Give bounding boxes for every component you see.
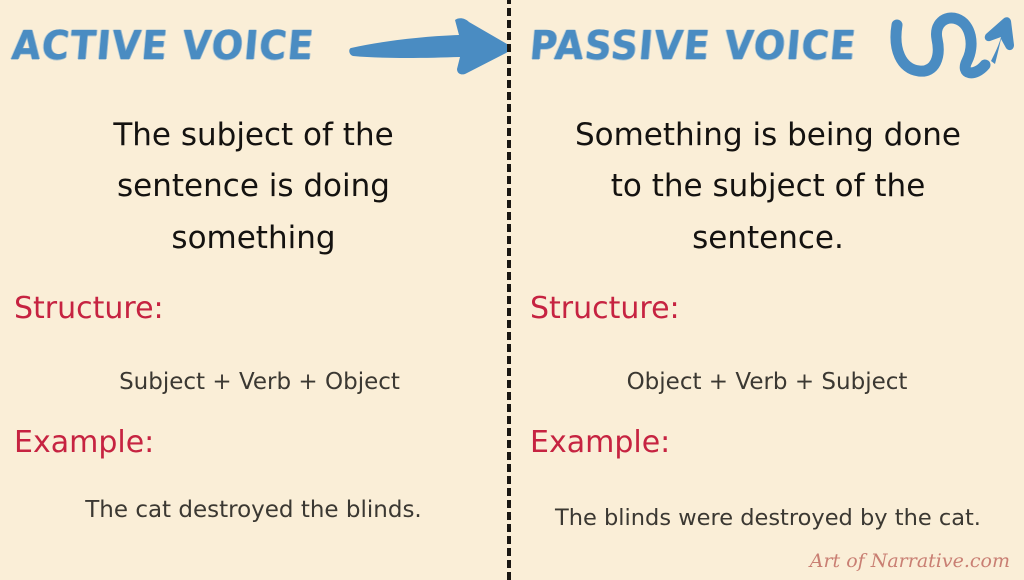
active-example-label: Example: — [14, 428, 154, 458]
active-voice-description: The subject of the sentence is doing som… — [0, 110, 507, 264]
active-voice-panel: Active Voice The subject of the sentence… — [0, 0, 507, 576]
passive-structure-label: Structure: — [530, 294, 680, 324]
passive-example-text: The blinds were destroyed by the cat. — [512, 503, 1024, 535]
passive-voice-description: Something is being done to the subject o… — [512, 110, 1024, 264]
passive-structure-formula: Object + Verb + Subject — [512, 366, 1024, 399]
vertical-dashed-divider — [507, 0, 511, 580]
passive-voice-panel: Passive Voice Something is being done to… — [512, 0, 1024, 576]
active-voice-title: Active Voice — [10, 26, 316, 66]
active-example-text: The cat destroyed the blinds. — [0, 494, 507, 527]
curly-loop-arrow-icon — [887, 5, 1015, 87]
active-structure-label: Structure: — [14, 294, 164, 324]
straight-right-arrow-icon — [347, 14, 517, 78]
passive-example-label: Example: — [530, 428, 670, 458]
passive-voice-heading-row: Passive Voice — [512, 0, 1024, 92]
active-voice-heading-row: Active Voice — [0, 0, 507, 92]
active-structure-formula: Subject + Verb + Object — [0, 366, 507, 399]
watermark-credit: Art of Narrative.com — [810, 550, 1010, 572]
active-passive-voice-infographic: Active Voice The subject of the sentence… — [0, 0, 1024, 576]
passive-voice-title: Passive Voice — [528, 26, 858, 66]
